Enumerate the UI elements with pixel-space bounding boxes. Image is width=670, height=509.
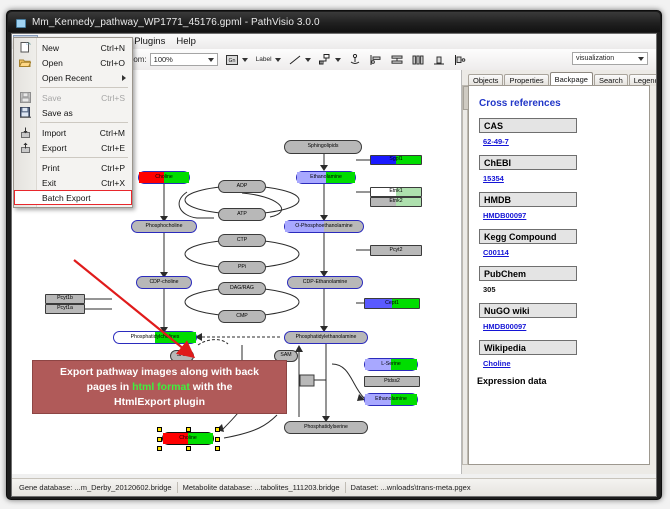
node-label: ATP	[237, 212, 247, 217]
node-label: Etnk1	[389, 189, 402, 194]
line-icon[interactable]	[288, 53, 302, 67]
gene-node-cept1[interactable]: Cept1	[364, 298, 420, 309]
xref-value-link[interactable]: HMDB00097	[483, 322, 649, 331]
align-right-icon[interactable]	[453, 53, 467, 67]
node-label: Sgpl1	[389, 157, 402, 162]
menu-item-shortcut: Ctrl+O	[100, 58, 125, 68]
node-label: L-Serine	[381, 362, 401, 367]
xref-value-link[interactable]: 62-49-7	[483, 137, 649, 146]
xref-block: ChEBI15354	[479, 155, 649, 183]
chevron-down-icon[interactable]	[335, 58, 341, 62]
gene-node-sgpl1[interactable]: Sgpl1	[370, 155, 422, 165]
file-menu-item-import[interactable]: ImportCtrl+M	[14, 125, 132, 140]
menu-item-shortcut: Ctrl+S	[101, 93, 125, 103]
status-segment: Gene database: ...m_Derby_20120602.bridg…	[12, 482, 177, 493]
menu-item-label: Print	[42, 163, 59, 173]
metabolite-node-ethanolamine-top[interactable]: Ethanolamine	[296, 171, 356, 184]
menu-item-shortcut: Ctrl+M	[100, 128, 125, 138]
menu-item-help[interactable]: Help	[171, 35, 201, 49]
menu-item-shortcut: Ctrl+X	[101, 178, 125, 188]
cross-reference-list: CAS62-49-7ChEBI15354HMDBHMDB00097Kegg Co…	[469, 118, 649, 368]
node-label: Ethanolamine	[310, 175, 342, 180]
save-as-icon	[18, 106, 32, 119]
xref-heading: NuGO wiki	[479, 303, 577, 318]
metabolite-node-sphingolipids[interactable]: Sphingolipids	[284, 140, 362, 154]
node-label: CTP	[237, 238, 247, 243]
metabolite-node-l-serine[interactable]: L-Serine	[364, 358, 418, 371]
file-menu-item-new[interactable]: NewCtrl+N	[14, 40, 132, 55]
menu-item-shortcut: Ctrl+E	[101, 143, 125, 153]
open-folder-icon	[18, 56, 32, 69]
metabolite-node-cdp-ethanolamine[interactable]: CDP-Ethanolamine	[287, 276, 363, 289]
chevron-down-icon	[638, 57, 644, 61]
file-menu-item-open-recent[interactable]: Open Recent	[14, 70, 132, 85]
node-label: Phosphocholine	[146, 224, 183, 229]
node-label: Ptdss2	[384, 379, 400, 384]
file-menu-item-export[interactable]: ExportCtrl+E	[14, 140, 132, 155]
file-menu-item-open[interactable]: OpenCtrl+O	[14, 55, 132, 70]
menu-separator	[40, 157, 128, 158]
menu-item-label: Save as	[42, 108, 73, 118]
menu-item-label: Batch Export	[42, 193, 91, 203]
app-root: Mm_Kennedy_pathway_WP1771_45176.gpml - P…	[0, 0, 670, 509]
metabolite-node-choline-top[interactable]: Choline	[138, 171, 190, 184]
node-label: Phosphatidylethanolamine	[296, 335, 357, 340]
menu-item-label: Exit	[42, 178, 56, 188]
pathvisio-icon	[15, 17, 26, 28]
file-menu-item-batch-export[interactable]: Batch Export	[14, 190, 132, 205]
xref-block: NuGO wikiHMDB00097	[479, 303, 649, 331]
node-label: Pcyt2	[390, 248, 403, 253]
xref-heading: Kegg Compound	[479, 229, 577, 244]
chevron-down-icon	[208, 58, 214, 62]
node-label: Pcyt1a	[57, 306, 73, 311]
status-segment: Metabolite database: ...tabolites_111203…	[177, 482, 345, 493]
callout-line-2-highlight: html format	[132, 381, 190, 393]
svg-text:Gn: Gn	[228, 58, 235, 64]
metabolite-node-phosphatidylethanolamine[interactable]: Phosphatidylethanolamine	[284, 331, 368, 344]
node-label: Etnk2	[389, 199, 402, 204]
callout-line-2b: with the	[190, 381, 233, 393]
xref-value-link[interactable]: C00114	[483, 248, 649, 257]
side-panel-tabs: ObjectsPropertiesBackpageSearchLegend	[468, 72, 657, 86]
visualization-combo[interactable]: visualization	[572, 52, 648, 65]
save-icon	[18, 91, 32, 104]
menu-separator	[40, 87, 128, 88]
chevron-down-icon[interactable]	[275, 58, 281, 62]
node-label: ADP	[237, 184, 248, 189]
menu-item-plugins[interactable]: Plugins	[129, 35, 170, 49]
metabolite-node-o-phosphoethanolamine[interactable]: O-Phosphoethanolamine	[284, 220, 364, 233]
gene-node-etnk2[interactable]: Etnk2	[370, 197, 422, 207]
xref-heading: Wikipedia	[479, 340, 577, 355]
node-label: CDP-Ethanolamine	[303, 280, 347, 285]
side-panel: ObjectsPropertiesBackpageSearchLegend Cr…	[462, 70, 657, 474]
menu-item-label: Save	[42, 93, 61, 103]
window-title: Mm_Kennedy_pathway_WP1771_45176.gpml - P…	[32, 17, 320, 28]
zoom-value: 100%	[154, 55, 173, 64]
import-icon	[18, 126, 32, 139]
metabolite-node-phosphatidylserine[interactable]: Phosphatidylserine	[284, 421, 368, 434]
align-left-icon[interactable]	[369, 53, 383, 67]
gene-node-etnk1[interactable]: Etnk1	[370, 187, 422, 197]
export-icon	[18, 141, 32, 154]
new-file-icon	[18, 41, 32, 54]
node-label: Pcyt1b	[57, 296, 73, 301]
label-button[interactable]: Label	[256, 56, 272, 63]
menu-item-label: Open	[42, 58, 63, 68]
xref-block: WikipediaCholine	[479, 340, 649, 368]
menu-item-label: New	[42, 43, 59, 53]
node-label: Ethanolamine	[375, 397, 407, 402]
application-window: Mm_Kennedy_pathway_WP1771_45176.gpml - P…	[6, 10, 662, 500]
gene-product-icon[interactable]: Gn	[225, 53, 239, 67]
status-bar: Gene database: ...m_Derby_20120602.bridg…	[12, 478, 656, 496]
xref-block: PubChem305	[479, 266, 649, 294]
xref-heading: PubChem	[479, 266, 577, 281]
menu-item-shortcut: Ctrl+P	[101, 163, 125, 173]
xref-value-link[interactable]: 15354	[483, 174, 649, 183]
xref-value: 305	[483, 285, 649, 294]
xref-block: CAS62-49-7	[479, 118, 649, 146]
xref-heading: HMDB	[479, 192, 577, 207]
menu-item-label: Import	[42, 128, 66, 138]
node-label: Cept1	[385, 301, 399, 306]
title-bar: Mm_Kennedy_pathway_WP1771_45176.gpml - P…	[8, 12, 660, 32]
node-label: O-Phosphoethanolamine	[295, 224, 352, 229]
metabolite-node-adp[interactable]: ADP	[218, 180, 266, 193]
node-label: SAM	[280, 353, 291, 358]
align-bottom-icon[interactable]	[432, 53, 446, 67]
file-menu-item-exit[interactable]: ExitCtrl+X	[14, 175, 132, 190]
zoom-combo[interactable]: 100%	[150, 53, 218, 66]
menu-item-shortcut: Ctrl+N	[101, 43, 125, 53]
xref-heading: ChEBI	[479, 155, 577, 170]
anchor-icon[interactable]	[348, 53, 362, 67]
cross-references-title: Cross references	[479, 98, 649, 109]
callout-line-2a: pages in	[87, 381, 133, 393]
xref-value-link[interactable]: HMDB00097	[483, 211, 649, 220]
gene-node-pcyt2[interactable]: Pcyt2	[370, 245, 422, 256]
node-label: Choline	[155, 175, 173, 180]
node-label: Sphingolipids	[308, 144, 339, 149]
menu-item-label: Export	[42, 143, 67, 153]
submenu-arrow-icon	[122, 75, 126, 81]
visualization-value: visualization	[576, 55, 614, 62]
file-menu-item-print[interactable]: PrintCtrl+P	[14, 160, 132, 175]
chevron-down-icon[interactable]	[305, 58, 311, 62]
chevron-down-icon[interactable]	[242, 58, 248, 62]
gene-node-ptdss2[interactable]: Ptdss2	[364, 376, 420, 387]
callout-line-1: Export pathway images along with back	[60, 366, 259, 378]
interaction-icon[interactable]	[318, 53, 332, 67]
xref-block: Kegg CompoundC00114	[479, 229, 649, 257]
menu-separator	[40, 122, 128, 123]
file-menu-item-save-as[interactable]: Save as	[14, 105, 132, 120]
metabolite-node-ctp[interactable]: CTP	[218, 234, 266, 247]
xref-value-link[interactable]: Choline	[483, 359, 649, 368]
annotation-callout: Export pathway images along with back pa…	[32, 360, 287, 414]
metabolite-node-atp[interactable]: ATP	[218, 208, 266, 221]
xref-block: HMDBHMDB00097	[479, 192, 649, 220]
xref-heading: CAS	[479, 118, 577, 133]
callout-line-3: HtmlExport plugin	[114, 396, 205, 408]
file-menu-item-save: SaveCtrl+S	[14, 90, 132, 105]
backpage-content: Cross references CAS62-49-7ChEBI15354HMD…	[468, 85, 650, 465]
file-menu-dropdown[interactable]: NewCtrl+NOpenCtrl+OOpen RecentSaveCtrl+S…	[13, 37, 133, 208]
metabolite-node-phosphocholine[interactable]: Phosphocholine	[131, 220, 197, 233]
metabolite-node-ethanolamine-right[interactable]: Ethanolamine	[364, 393, 418, 406]
tab-backpage[interactable]: Backpage	[550, 72, 593, 86]
align-columns-icon[interactable]	[411, 53, 425, 67]
node-label: Phosphatidylserine	[304, 425, 348, 430]
align-stack-icon[interactable]	[390, 53, 404, 67]
status-segment: Dataset: ...wnloads\trans-meta.pgex	[345, 482, 476, 493]
expression-data-heading: Expression data	[477, 376, 649, 386]
menu-item-label: Open Recent	[42, 73, 92, 83]
